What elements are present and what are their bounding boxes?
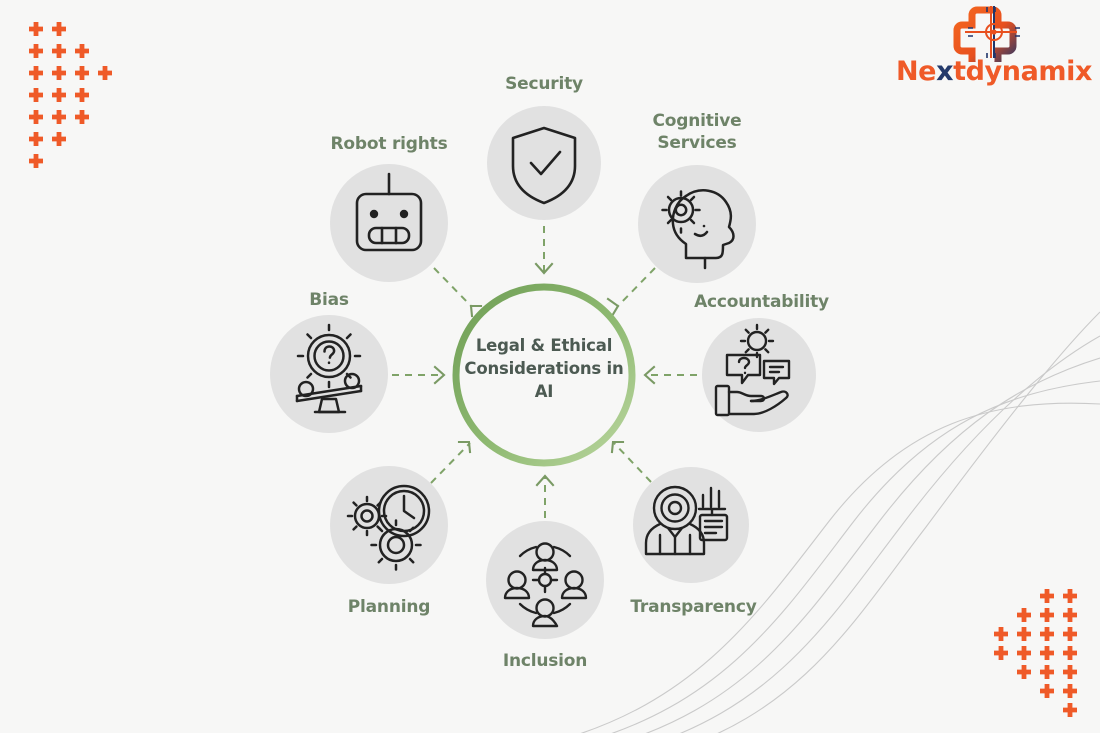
brand-wordmark-x: x <box>936 56 953 87</box>
brand-logo[interactable]: Nextdynamix <box>888 6 1100 102</box>
node-label-cognitive-services: Cognitive Services <box>597 110 797 155</box>
label-layer: Legal & Ethical Considerations in AI Sec… <box>0 0 1100 733</box>
node-label-robot-rights: Robot rights <box>289 133 489 155</box>
node-label-planning: Planning <box>289 596 489 618</box>
brand-wordmark: Nextdynamix <box>888 58 1100 85</box>
center-title: Legal & Ethical Considerations in AI <box>451 335 637 403</box>
node-label-accountability: Accountability <box>659 291 864 313</box>
cross-gear-logo-icon <box>888 6 1100 62</box>
node-label-bias: Bias <box>229 289 429 311</box>
node-label-security: Security <box>444 73 644 95</box>
brand-wordmark-part2: tdynamix <box>953 56 1092 87</box>
brand-wordmark-part1: Ne <box>896 56 936 87</box>
node-label-transparency: Transparency <box>591 596 796 618</box>
infographic-canvas: Legal & Ethical Considerations in AI Sec… <box>0 0 1100 733</box>
node-label-inclusion: Inclusion <box>445 650 645 672</box>
